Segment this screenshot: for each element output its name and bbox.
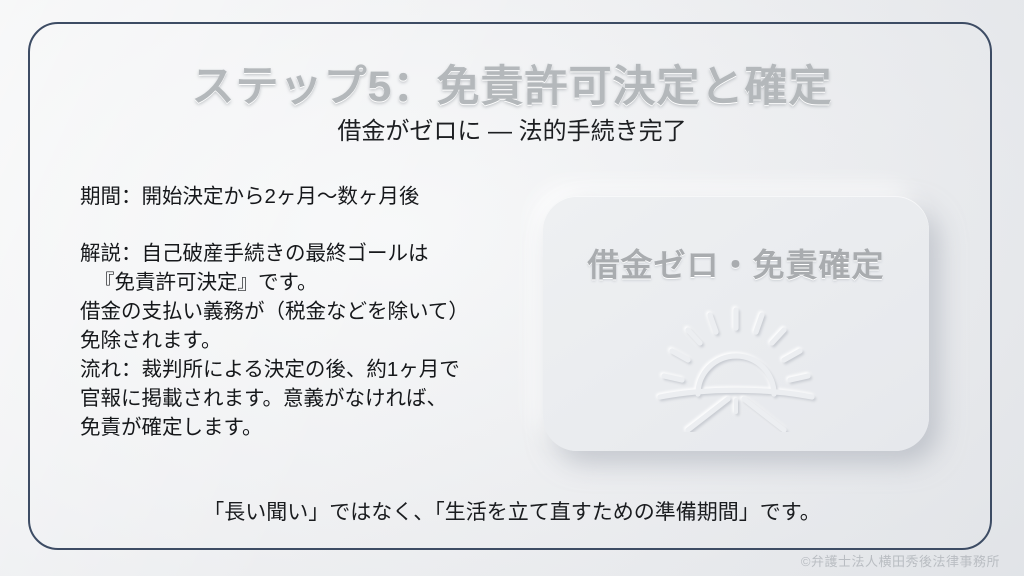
explanation-line-7: 免責が確定します。 <box>80 413 530 442</box>
explanation-line-2: 『免責許可決定』です。 <box>80 268 530 297</box>
body-text-block: 期間：開始決定から2ヶ月〜数ヶ月後 解説：自己破産手続きの最終ゴールは 『免責許… <box>80 182 530 442</box>
explanation-line-6: 官報に掲載されます。意義がなければ、 <box>80 384 530 413</box>
explanation-line-3: 借金の支払い義務が（税金などを除いて） <box>80 297 530 326</box>
explanation-line-4: 免除されます。 <box>80 326 530 355</box>
card-title: 借金ゼロ・免責確定 <box>543 240 929 286</box>
body-spacer <box>80 211 530 239</box>
slide-tagline: 「長い聞い」ではなく、「生活を立て直すための準備期間」です。 <box>0 496 1024 526</box>
highlight-card: 借金ゼロ・免責確定 <box>543 196 929 451</box>
slide-canvas: ステップ5：免責許可決定と確定 借金がゼロに ― 法的手続き完了 期間：開始決定… <box>0 0 1024 576</box>
explanation-line-1: 解説：自己破産手続きの最終ゴールは <box>80 239 530 268</box>
copyright-footer: ©弁護士法人横田秀後法律事務所 <box>801 551 1000 570</box>
explanation-line-5: 流れ：裁判所による決定の後、約1ヶ月で <box>80 355 530 384</box>
slide-title: ステップ5：免責許可決定と確定 <box>0 52 1024 114</box>
slide-subtitle: 借金がゼロに ― 法的手続き完了 <box>0 111 1024 146</box>
sunrise-road-icon <box>636 300 836 432</box>
period-line: 期間：開始決定から2ヶ月〜数ヶ月後 <box>80 182 530 211</box>
